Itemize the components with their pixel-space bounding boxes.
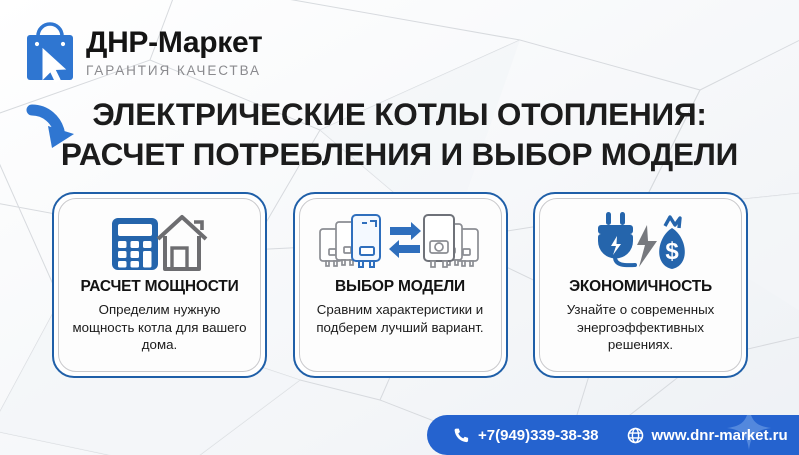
feature-card-power-calculation[interactable]: РАСЧЕТ МОЩНОСТИ Определим нужную мощност… <box>52 192 267 378</box>
feature-card-body: Сравним характеристики и подберем лучший… <box>300 301 501 336</box>
brand-logo: ДНР-Маркет ГАРАНТИЯ КАЧЕСТВА <box>24 22 262 84</box>
feature-card-list: РАСЧЕТ МОЩНОСТИ Определим нужную мощност… <box>52 192 748 378</box>
brand-title: ДНР-Маркет <box>86 28 262 58</box>
svg-text:$: $ <box>665 238 679 265</box>
calculator-house-icon <box>108 208 212 274</box>
boiler-comparison-icon <box>316 208 484 274</box>
feature-card-economy[interactable]: $ ЭКОНОМИЧНОСТЬ Узнайте о современных эн… <box>533 192 748 378</box>
feature-card-body: Определим нужную мощность котла для ваше… <box>59 301 260 354</box>
shopping-bag-cursor-icon <box>24 22 76 84</box>
headline-line-1: ЭЛЕКТРИЧЕСКИЕ КОТЛЫ ОТОПЛЕНИЯ: <box>14 94 785 134</box>
footer-website-label: www.dnr-market.ru <box>652 427 788 444</box>
brand-tagline: ГАРАНТИЯ КАЧЕСТВА <box>86 63 262 78</box>
feature-card-title: ВЫБОР МОДЕЛИ <box>335 278 465 296</box>
page-title: ЭЛЕКТРИЧЕСКИЕ КОТЛЫ ОТОПЛЕНИЯ: РАСЧЕТ ПО… <box>0 94 799 175</box>
footer-phone-label: +7(949)339-38-38 <box>478 427 599 444</box>
plug-money-bag-icon: $ <box>587 208 695 274</box>
footer-phone[interactable]: +7(949)339-38-38 <box>453 427 599 444</box>
globe-icon <box>627 427 644 444</box>
feature-card-title: ЭКОНОМИЧНОСТЬ <box>569 278 712 296</box>
contact-footer-bar: +7(949)339-38-38 www.dnr-market.ru <box>427 415 799 455</box>
feature-card-model-choice[interactable]: ВЫБОР МОДЕЛИ Сравним характеристики и по… <box>293 192 508 378</box>
headline-line-2: РАСЧЕТ ПОТРЕБЛЕНИЯ И ВЫБОР МОДЕЛИ <box>14 134 785 174</box>
footer-website[interactable]: www.dnr-market.ru <box>627 427 788 444</box>
feature-card-body: Узнайте о современных энергоэффективных … <box>540 301 741 354</box>
feature-card-title: РАСЧЕТ МОЩНОСТИ <box>80 278 238 296</box>
promo-banner: ДНР-Маркет ГАРАНТИЯ КАЧЕСТВА ЭЛЕКТРИЧЕСК… <box>0 0 799 455</box>
phone-icon <box>453 427 470 444</box>
